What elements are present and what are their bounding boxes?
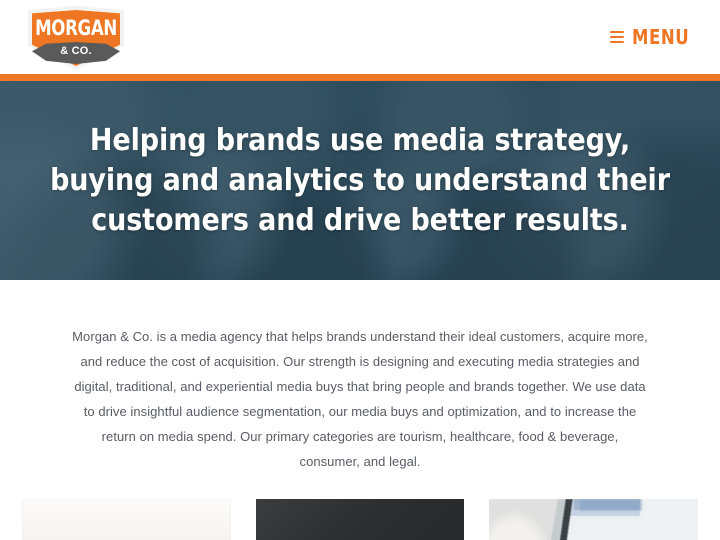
menu-toggle-button[interactable]: MENU bbox=[608, 21, 696, 53]
page-root: MORGAN & CO. MENU Helping brands use med… bbox=[0, 0, 720, 540]
logo-sub-wordmark: & CO. bbox=[28, 46, 124, 57]
site-header: MORGAN & CO. MENU bbox=[0, 0, 720, 74]
orange-accent-rule bbox=[0, 74, 720, 81]
card-crowd-image bbox=[22, 499, 231, 540]
hero-headline: Helping brands use media strategy, buyin… bbox=[40, 121, 680, 241]
logo-wordmark: MORGAN bbox=[34, 18, 118, 39]
hamburger-icon bbox=[610, 31, 624, 43]
intro-paragraph: Morgan & Co. is a media agency that help… bbox=[70, 324, 650, 474]
menu-toggle-label: MENU bbox=[632, 25, 689, 49]
hero-content: Helping brands use media strategy, buyin… bbox=[0, 81, 720, 280]
card-crowd[interactable] bbox=[22, 499, 231, 540]
card-chalkboard-image bbox=[256, 499, 465, 540]
morgan-and-co-logo[interactable]: MORGAN & CO. bbox=[28, 6, 124, 70]
card-laptop[interactable] bbox=[489, 499, 698, 540]
intro-section: Morgan & Co. is a media agency that help… bbox=[0, 280, 720, 474]
feature-card-row bbox=[0, 474, 720, 540]
card-chalkboard[interactable] bbox=[256, 499, 465, 540]
hero-section: Helping brands use media strategy, buyin… bbox=[0, 81, 720, 280]
card-laptop-image bbox=[489, 499, 698, 540]
